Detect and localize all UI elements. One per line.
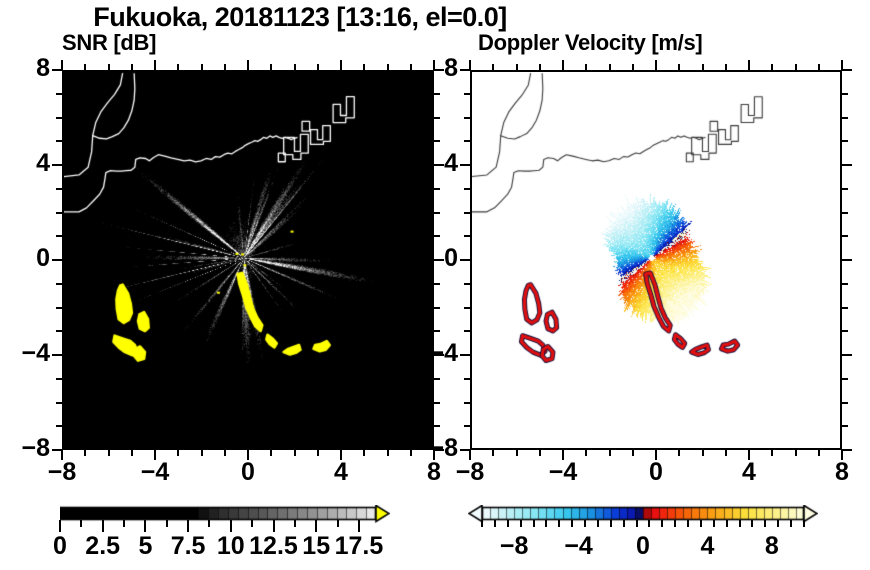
x-tick (492, 64, 494, 70)
y-tick (464, 378, 470, 380)
y-tick (52, 259, 62, 261)
y-tick (56, 378, 62, 380)
x-tick (492, 450, 494, 456)
y-tick (434, 378, 440, 380)
doppler-colorbar-tick (571, 520, 573, 527)
y-tick (56, 307, 62, 309)
figure-title: Fukuoka, 20181123 [13:16, el=0.0] (0, 2, 600, 33)
x-tick (585, 64, 587, 70)
y-tick (56, 235, 62, 237)
y-tick (842, 259, 852, 261)
doppler-colorbar-tick (790, 520, 792, 527)
y-axis-label: 4 (406, 149, 458, 178)
y-axis-label: −8 (0, 434, 50, 463)
doppler-colorbar-tick (764, 520, 766, 527)
x-tick (609, 450, 611, 456)
snr-colorbar-tick (80, 520, 82, 527)
x-axis-label: −4 (533, 458, 593, 487)
x-tick (725, 450, 727, 456)
x-tick (539, 450, 541, 456)
x-axis-label: 4 (719, 458, 779, 487)
x-tick (748, 60, 750, 70)
snr-colorbar[interactable] (60, 505, 390, 527)
snr-colorbar-gradient (60, 505, 390, 527)
y-tick (464, 140, 470, 142)
snr-colorbar-tick (102, 520, 104, 532)
snr-colorbar-tick (166, 520, 168, 527)
y-tick (464, 402, 470, 404)
y-tick (842, 117, 848, 119)
y-tick (56, 212, 62, 214)
doppler-colorbar-tick (739, 520, 741, 527)
y-tick (460, 69, 470, 71)
x-tick (387, 64, 389, 70)
x-tick (224, 450, 226, 456)
x-tick (702, 450, 704, 456)
snr-colorbar-tick (230, 520, 232, 532)
y-tick (434, 330, 440, 332)
snr-colorbar-label: 17.5 (324, 532, 394, 561)
doppler-plot-area[interactable] (470, 70, 842, 450)
x-tick (247, 60, 249, 70)
x-tick (270, 450, 272, 456)
y-tick (842, 164, 852, 166)
doppler-colorbar-tick (584, 520, 586, 527)
y-tick (464, 93, 470, 95)
y-tick (842, 378, 848, 380)
y-tick (52, 354, 62, 356)
x-tick (84, 64, 86, 70)
y-tick (842, 425, 848, 427)
doppler-colorbar-tick (481, 520, 483, 527)
doppler-colorbar-tick (726, 520, 728, 527)
x-axis-label: 4 (311, 458, 371, 487)
x-tick (702, 64, 704, 70)
x-tick (201, 64, 203, 70)
doppler-colorbar-tick (751, 520, 753, 527)
y-tick (56, 117, 62, 119)
x-tick (317, 64, 319, 70)
y-tick (464, 235, 470, 237)
x-tick (655, 60, 657, 70)
snr-colorbar-tick (251, 520, 253, 527)
doppler-colorbar-tick (661, 520, 663, 527)
x-tick (818, 450, 820, 456)
doppler-colorbar-tick (713, 520, 715, 527)
y-tick (56, 140, 62, 142)
x-tick (795, 450, 797, 456)
x-tick (363, 450, 365, 456)
x-tick (771, 64, 773, 70)
doppler-colorbar-tick (623, 520, 625, 527)
snr-colorbar-tick (187, 520, 189, 532)
y-tick (464, 425, 470, 427)
y-axis-label: 8 (0, 54, 50, 83)
snr-colorbar-tick (337, 520, 339, 527)
doppler-colorbar-label: −8 (479, 532, 549, 561)
doppler-colorbar-tick (636, 520, 638, 527)
x-tick (539, 64, 541, 70)
x-tick (270, 64, 272, 70)
doppler-colorbar-tick (648, 520, 650, 527)
y-tick (842, 449, 852, 451)
y-axis-label: 8 (406, 54, 458, 83)
doppler-ppi-image (472, 72, 840, 448)
y-tick (464, 307, 470, 309)
y-tick (434, 140, 440, 142)
doppler-colorbar-label: −4 (544, 532, 614, 561)
y-tick (56, 93, 62, 95)
y-tick (464, 117, 470, 119)
y-tick (842, 69, 852, 71)
y-tick (434, 93, 440, 95)
doppler-colorbar-label: 4 (672, 532, 742, 561)
doppler-colorbar-tick (777, 520, 779, 527)
x-tick (201, 450, 203, 456)
doppler-colorbar-tick (803, 520, 805, 527)
x-tick (771, 450, 773, 456)
x-tick (177, 450, 179, 456)
y-tick (56, 402, 62, 404)
y-tick (434, 117, 440, 119)
y-tick (842, 307, 848, 309)
x-tick (516, 450, 518, 456)
y-tick (464, 212, 470, 214)
y-tick (460, 259, 470, 261)
y-tick (460, 164, 470, 166)
x-axis-label: 0 (218, 458, 278, 487)
x-axis-label: 8 (812, 458, 870, 487)
doppler-colorbar-tick (520, 520, 522, 527)
snr-colorbar-tick (358, 520, 360, 532)
y-tick (434, 235, 440, 237)
x-tick (177, 64, 179, 70)
doppler-colorbar-tick (533, 520, 535, 527)
y-tick (56, 330, 62, 332)
snr-colorbar-tick (208, 520, 210, 527)
doppler-colorbar-tick (674, 520, 676, 527)
y-tick (434, 425, 440, 427)
doppler-colorbar-tick (700, 520, 702, 527)
snr-colorbar-tick (123, 520, 125, 527)
snr-colorbar-tick (144, 520, 146, 532)
snr-panel-title: SNR [dB] (62, 30, 156, 56)
x-tick (317, 450, 319, 456)
y-axis-label: 0 (406, 244, 458, 273)
y-tick (434, 188, 440, 190)
doppler-colorbar-tick (597, 520, 599, 527)
x-tick (224, 64, 226, 70)
x-axis-label: 0 (626, 458, 686, 487)
y-tick (460, 354, 470, 356)
x-tick (154, 60, 156, 70)
y-axis-label: 0 (0, 244, 50, 273)
y-tick (434, 283, 440, 285)
x-tick (340, 60, 342, 70)
y-tick (842, 330, 848, 332)
doppler-colorbar-tick (687, 520, 689, 527)
doppler-colorbar-tick (507, 520, 509, 527)
y-tick (460, 449, 470, 451)
y-tick (842, 283, 848, 285)
y-tick (52, 69, 62, 71)
x-tick (108, 64, 110, 70)
radar-figure: Fukuoka, 20181123 [13:16, el=0.0] SNR [d… (0, 0, 870, 570)
y-tick (842, 188, 848, 190)
x-tick (585, 450, 587, 456)
y-tick (464, 330, 470, 332)
y-tick (842, 93, 848, 95)
x-tick (294, 64, 296, 70)
snr-colorbar-tick (59, 520, 61, 532)
x-tick (632, 450, 634, 456)
doppler-colorbar-label: 0 (608, 532, 678, 561)
x-tick (131, 64, 133, 70)
x-tick (609, 64, 611, 70)
y-tick (464, 188, 470, 190)
y-tick (56, 188, 62, 190)
snr-plot-area[interactable] (62, 70, 434, 450)
x-tick (363, 64, 365, 70)
y-tick (434, 307, 440, 309)
y-tick (434, 402, 440, 404)
y-axis-label: −8 (406, 434, 458, 463)
y-tick (842, 235, 848, 237)
snr-colorbar-tick (315, 520, 317, 532)
x-tick (725, 64, 727, 70)
doppler-colorbar-label: 8 (737, 532, 807, 561)
x-tick (562, 60, 564, 70)
x-tick (795, 64, 797, 70)
y-tick (842, 212, 848, 214)
doppler-colorbar-tick (558, 520, 560, 527)
x-tick (84, 450, 86, 456)
y-tick (52, 449, 62, 451)
y-tick (52, 164, 62, 166)
doppler-colorbar-tick (545, 520, 547, 527)
y-tick (464, 283, 470, 285)
snr-colorbar-tick (294, 520, 296, 527)
doppler-panel-title: Doppler Velocity [m/s] (478, 30, 702, 56)
x-tick (387, 450, 389, 456)
x-tick (131, 450, 133, 456)
doppler-colorbar-tick (610, 520, 612, 527)
snr-colorbar-tick (273, 520, 275, 532)
y-tick (842, 354, 852, 356)
x-tick (108, 450, 110, 456)
x-tick (818, 64, 820, 70)
x-tick (678, 64, 680, 70)
x-tick (294, 450, 296, 456)
y-tick (56, 283, 62, 285)
snr-ppi-image (64, 72, 432, 448)
y-tick (56, 425, 62, 427)
y-tick (842, 402, 848, 404)
x-tick (632, 64, 634, 70)
doppler-colorbar-tick (494, 520, 496, 527)
y-tick (842, 140, 848, 142)
x-axis-label: −4 (125, 458, 185, 487)
x-tick (516, 64, 518, 70)
y-axis-label: 4 (0, 149, 50, 178)
y-axis-label: −4 (0, 339, 50, 368)
y-tick (434, 212, 440, 214)
x-tick (678, 450, 680, 456)
y-axis-label: −4 (406, 339, 458, 368)
